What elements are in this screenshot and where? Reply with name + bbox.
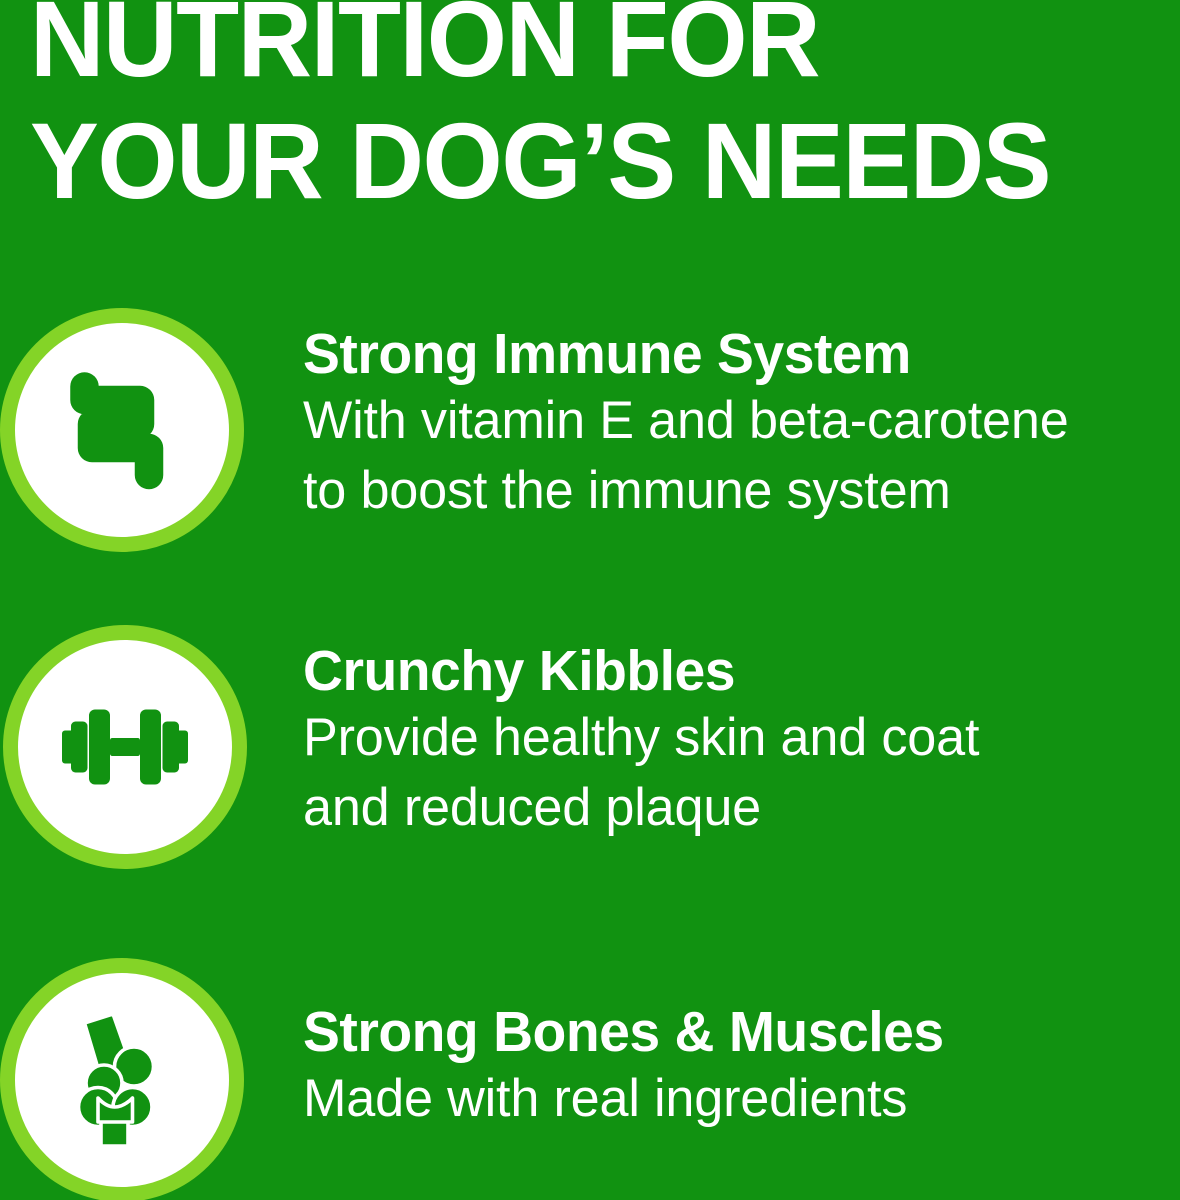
dumbbell-icon [50, 672, 200, 822]
icon-badge-crunchy-kibbles [3, 625, 247, 869]
icon-badge-immune-system [0, 308, 244, 552]
page-title: NUTRITION FOR YOUR DOG’S NEEDS [30, 0, 1128, 222]
feature-text-bones-muscles: Strong Bones & Muscles Made with real in… [303, 1000, 1180, 1134]
bone-joint-icon [47, 1005, 197, 1155]
icon-badge-bones-muscles [0, 958, 244, 1200]
feature-title-immune-system: Strong Immune System [303, 322, 1155, 386]
feature-description-bones-muscles: Made with real ingredients [303, 1064, 1168, 1134]
feature-description-crunchy-kibbles: Provide healthy skin and coat and reduce… [303, 703, 1168, 843]
feature-text-immune-system: Strong Immune System With vitamin E and … [303, 322, 1180, 526]
feature-title-bones-muscles: Strong Bones & Muscles [303, 1000, 1155, 1064]
feature-description-immune-system: With vitamin E and beta-carotene to boos… [303, 386, 1168, 526]
nutrition-infographic: NUTRITION FOR YOUR DOG’S NEEDS Strong Im… [0, 0, 1180, 1200]
feature-title-crunchy-kibbles: Crunchy Kibbles [303, 639, 1155, 703]
feature-text-crunchy-kibbles: Crunchy Kibbles Provide healthy skin and… [303, 639, 1180, 843]
intestine-icon [47, 355, 197, 505]
